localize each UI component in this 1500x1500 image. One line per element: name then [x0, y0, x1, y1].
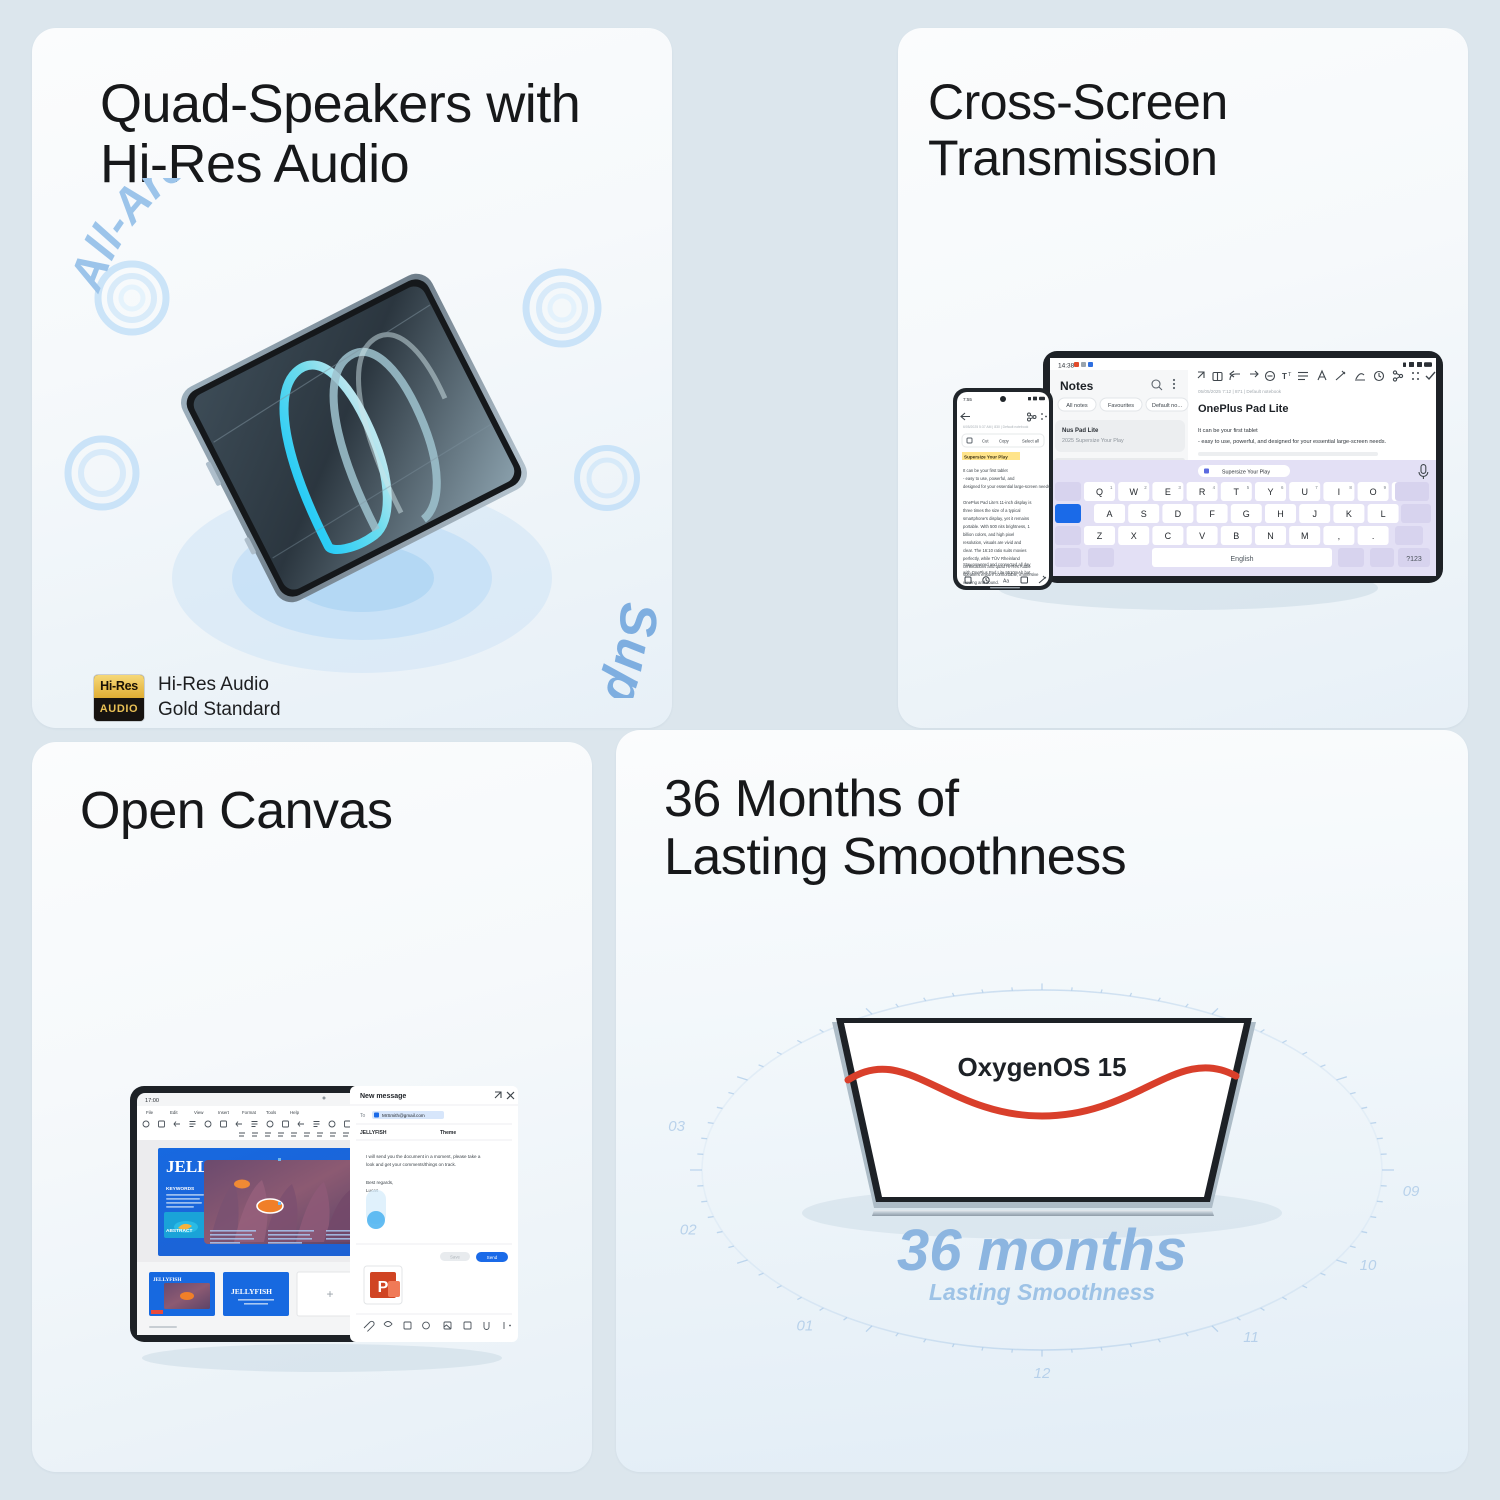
- svg-text:X: X: [1131, 531, 1137, 541]
- svg-text:,: ,: [1338, 531, 1341, 541]
- svg-text:All notes: All notes: [1066, 403, 1088, 409]
- svg-text:A: A: [1106, 509, 1112, 519]
- svg-text:clear. The 16:10 ratio suits m: clear. The 16:10 ratio suits movies: [963, 548, 1026, 553]
- smoothness-illustration: 12010203091011 OxygenOS 15 36 months Las…: [616, 970, 1468, 1470]
- card-title-cross-screen: Cross-Screen Transmission: [928, 74, 1228, 186]
- cursor-bubble: [366, 1190, 386, 1229]
- svg-text:N: N: [1267, 531, 1274, 541]
- svg-text:I: I: [1338, 487, 1341, 497]
- svg-text:JELLYFISH: JELLYFISH: [153, 1277, 181, 1283]
- svg-text:R: R: [1199, 487, 1206, 497]
- svg-text:Stay powered and connected all: Stay powered and connected all day: [963, 562, 1031, 567]
- svg-text:Nus Pad Lite: Nus Pad Lite: [1062, 428, 1099, 434]
- svg-text:B: B: [1233, 531, 1239, 541]
- svg-text:KEYWORDS: KEYWORDS: [166, 1186, 195, 1192]
- smoothness-svg: 12010203091011 OxygenOS 15 36 months Las…: [616, 970, 1468, 1470]
- svg-text:JELLYFISH: JELLYFISH: [231, 1287, 272, 1296]
- svg-text:To: To: [360, 1113, 366, 1119]
- svg-text:S: S: [1141, 509, 1147, 519]
- speaker-illustration: All-Around Supersized Sound: [32, 178, 672, 698]
- card-quad-speakers: Quad-Speakers with Hi-Res Audio: [32, 28, 672, 728]
- svg-text:17:00: 17:00: [145, 1098, 159, 1104]
- key-modifier[interactable]: [1055, 504, 1081, 523]
- svg-text:ABSTRACT: ABSTRACT: [166, 1228, 192, 1234]
- svg-text:W: W: [1129, 487, 1138, 497]
- svg-text:perfectly, while TÜV Rheinland: perfectly, while TÜV Rheinland: [963, 556, 1021, 561]
- virtual-keyboard: Supersize Your Play Q1W2E3R4T5Y6U7I8O9P0…: [1050, 460, 1436, 576]
- svg-text:designed for your essential la: designed for your essential large-screen…: [963, 484, 1051, 489]
- svg-text:D: D: [1175, 509, 1182, 519]
- svg-text:M: M: [1301, 531, 1309, 541]
- svg-text:with OnePlus Pad Lite 9510mAh: with OnePlus Pad Lite 9510mAh bat...: [963, 570, 1034, 575]
- key-aux[interactable]: [1370, 548, 1394, 567]
- card-open-canvas: Open Canvas 17:00: [32, 742, 592, 1472]
- feature-grid-page: Quad-Speakers with Hi-Res Audio: [0, 0, 1500, 1500]
- svg-text:Supersize Your Play: Supersize Your Play: [1222, 470, 1271, 476]
- svg-text:7:55: 7:55: [963, 397, 972, 402]
- svg-text:Select all: Select all: [1022, 439, 1039, 444]
- attachment-powerpoint: P: [364, 1266, 402, 1304]
- svg-text:Y: Y: [1267, 487, 1273, 497]
- svg-text:It can be your first tablet: It can be your first tablet: [1198, 428, 1258, 434]
- svg-text:Theme: Theme: [440, 1130, 456, 1136]
- open-canvas-svg: 17:00 75% FileEditViewInsertFormatToolsH…: [92, 1062, 552, 1402]
- menu-tools[interactable]: Tools: [266, 1110, 277, 1115]
- svg-text:V: V: [1199, 531, 1205, 541]
- card-title-quad-speakers: Quad-Speakers with Hi-Res Audio: [100, 74, 580, 195]
- svg-text:E: E: [1165, 487, 1171, 497]
- svg-text:09: 09: [1403, 1183, 1420, 1200]
- notes-filter-tabs: All notes Favourites Default no...: [1058, 398, 1188, 411]
- svg-text:05/05/2025 7:12 | 871 | D: 05/05/2025 7:12 | 871 | Default notebook: [1198, 389, 1282, 394]
- svg-text:Copy: Copy: [999, 439, 1010, 444]
- key-aux[interactable]: [1055, 548, 1081, 567]
- big-months-text: 36 months: [897, 1218, 1187, 1283]
- menu-edit[interactable]: Edit: [170, 1110, 178, 1115]
- svg-text:02: 02: [680, 1221, 697, 1238]
- svg-text:Aa: Aa: [1003, 579, 1009, 585]
- tablet-device-oxygenos: OxygenOS 15: [802, 1018, 1282, 1239]
- hi-res-logo-bottom: AUDIO: [94, 698, 144, 721]
- tablet-status-time: 14:38: [1058, 363, 1075, 370]
- svg-text:MrSmith@gmail.com: MrSmith@gmail.com: [382, 1113, 425, 1118]
- svg-text:11: 11: [1243, 1329, 1259, 1346]
- cross-screen-illustration: 14:38 Notes: [898, 328, 1468, 658]
- svg-text:Supersize Your Play: Supersize Your Play: [964, 455, 1008, 460]
- menu-file[interactable]: File: [146, 1110, 154, 1115]
- hi-res-logo-top: Hi-Res: [94, 675, 144, 698]
- oxygenos-label: OxygenOS 15: [957, 1052, 1126, 1082]
- card-lasting-smoothness: 36 Months of Lasting Smoothness: [616, 730, 1468, 1472]
- card-cross-screen: Cross-Screen Transmission: [898, 28, 1468, 728]
- svg-text:- easy to use, powerful, and: - easy to use, powerful, and: [963, 476, 1015, 481]
- hi-res-audio-logo-icon: Hi-Res AUDIO: [94, 675, 144, 721]
- speaker-scene-svg: All-Around Supersized Sound: [32, 178, 672, 698]
- svg-text:Default no...: Default no...: [1152, 403, 1183, 409]
- svg-text:OnePlus Pad Lite's 11-inch dis: OnePlus Pad Lite's 11-inch display is: [963, 500, 1031, 505]
- svg-text:Cut: Cut: [982, 439, 989, 444]
- svg-text:03: 03: [668, 1118, 685, 1135]
- svg-text:Best regards,: Best regards,: [366, 1180, 393, 1185]
- svg-text:- easy to use, powerful, and d: - easy to use, powerful, and designed fo…: [1198, 439, 1387, 445]
- feature-grid: Quad-Speakers with Hi-Res Audio: [32, 28, 1468, 1472]
- hi-res-audio-caption: Hi-Res Audio Gold Standard: [158, 673, 281, 722]
- svg-text:L: L: [1381, 509, 1386, 519]
- svg-text:P: P: [378, 1279, 389, 1296]
- menu-view[interactable]: View: [194, 1110, 204, 1115]
- svg-text:12: 12: [1034, 1365, 1051, 1382]
- svg-text:C: C: [1165, 531, 1172, 541]
- hi-res-caption-line2: Gold Standard: [158, 698, 281, 723]
- svg-text:F: F: [1209, 509, 1215, 519]
- cross-screen-svg: 14:38 Notes: [898, 328, 1468, 658]
- menu-format[interactable]: Format: [242, 1110, 257, 1115]
- svg-text:Q: Q: [1096, 487, 1103, 497]
- svg-text:Send: Send: [487, 1255, 498, 1260]
- svg-text:K: K: [1346, 509, 1352, 519]
- key-modifier[interactable]: [1055, 482, 1081, 501]
- svg-text:J: J: [1312, 509, 1317, 519]
- sub-smoothness-text: Lasting Smoothness: [929, 1279, 1155, 1305]
- key-shift-right[interactable]: [1395, 526, 1423, 545]
- open-canvas-illustration: 17:00 75% FileEditViewInsertFormatToolsH…: [92, 1062, 552, 1402]
- phone-device-notes: 7:55 6/05/2025 5:37 AM | 830 | Default n…: [953, 388, 1053, 590]
- svg-text:6/05/2025 5:37 AM | 830 |: 6/05/2025 5:37 AM | 830 | Default notebo…: [963, 425, 1029, 429]
- card-title-lasting-smoothness: 36 Months of Lasting Smoothness: [664, 770, 1126, 886]
- svg-text:OnePlus Pad Lite: OnePlus Pad Lite: [1198, 403, 1288, 415]
- svg-text:resolution, visuals are vivid: resolution, visuals are vivid and: [963, 540, 1022, 545]
- svg-text:billion colors, and high pixel: billion colors, and high pixel: [963, 532, 1014, 537]
- svg-text:H: H: [1277, 509, 1284, 519]
- arc-text-all-around: All-Around: [58, 178, 273, 298]
- svg-text:?123: ?123: [1406, 556, 1422, 563]
- svg-text:01: 01: [797, 1317, 814, 1334]
- hi-res-audio-badge: Hi-Res AUDIO Hi-Res Audio Gold Standard: [94, 673, 281, 722]
- hi-res-caption-line1: Hi-Res Audio: [158, 673, 281, 698]
- email-compose-panel: New message To MrSmith@gmail.com JELLYFI…: [350, 1086, 518, 1342]
- key-modifier[interactable]: [1055, 526, 1081, 545]
- svg-text:10: 10: [1360, 1257, 1377, 1274]
- key-enter[interactable]: [1401, 504, 1431, 523]
- svg-text:three times the size of a typi: three times the size of a typical: [963, 508, 1021, 513]
- notes-app-title: Notes: [1060, 379, 1094, 393]
- key-backspace[interactable]: [1395, 482, 1429, 501]
- svg-text:+: +: [326, 1287, 333, 1301]
- svg-text:It can be your first tablet: It can be your first tablet: [963, 468, 1009, 473]
- svg-text:O: O: [1370, 487, 1377, 497]
- svg-text:look and get your comments/thi: look and get your comments/things on tra…: [366, 1162, 456, 1167]
- svg-text:portable. With 500 nits bright: portable. With 500 nits brightness, 1: [963, 524, 1030, 529]
- svg-text:JELLYFISH: JELLYFISH: [360, 1130, 387, 1136]
- key-aux[interactable]: [1338, 548, 1364, 567]
- svg-text:Favourites: Favourites: [1108, 403, 1134, 409]
- svg-text:smartphone's display, yet it r: smartphone's display, yet it remains: [963, 516, 1029, 521]
- svg-text:Save: Save: [450, 1255, 461, 1260]
- svg-text:.: .: [1372, 531, 1375, 541]
- svg-text:I will send you the document i: I will send you the document in a moment…: [366, 1154, 481, 1159]
- svg-text:Z: Z: [1097, 531, 1103, 541]
- svg-text:T: T: [1234, 487, 1240, 497]
- svg-text:2025 Supersize Your Play: 2025 Supersize Your Play: [1062, 438, 1124, 444]
- card-title-open-canvas: Open Canvas: [80, 782, 392, 840]
- slide-thumbnails: JELLYFISH JELLYFISH +: [149, 1272, 363, 1316]
- svg-text:T: T: [1282, 372, 1287, 381]
- svg-text:New message: New message: [360, 1093, 406, 1100]
- menu-help[interactable]: Help: [290, 1110, 300, 1115]
- menu-insert[interactable]: Insert: [218, 1110, 230, 1115]
- svg-text:English: English: [1231, 556, 1254, 563]
- key-aux[interactable]: [1088, 548, 1114, 567]
- tablet-device-notes: 14:38 Notes: [1043, 351, 1443, 583]
- svg-text:G: G: [1243, 509, 1250, 519]
- svg-text:U: U: [1301, 487, 1308, 497]
